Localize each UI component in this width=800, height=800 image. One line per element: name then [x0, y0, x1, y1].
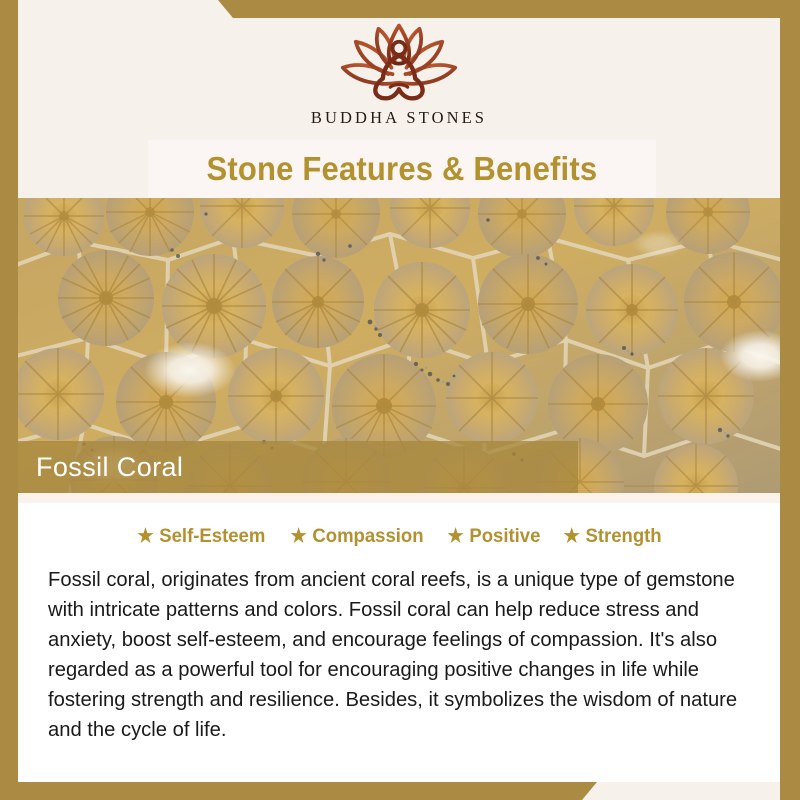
stone-name-label: Fossil Coral — [36, 452, 183, 483]
benefit-item-compassion: ★ Compassion — [290, 525, 423, 548]
info-panel: ★ Self-Esteem ★ Compassion ★ Positive ★ … — [18, 493, 780, 782]
star-icon: ★ — [447, 527, 463, 546]
page-title: Stone Features & Benefits — [207, 150, 598, 188]
star-icon: ★ — [290, 527, 306, 546]
gold-border-left — [0, 0, 18, 800]
poster-canvas: BUDDHA STONES Stone Features & Benefits — [0, 0, 800, 800]
brand-header: BUDDHA STONES — [18, 18, 780, 146]
benefit-label: Self-Esteem — [159, 525, 265, 548]
benefit-item-self-esteem: ★ Self-Esteem — [137, 525, 265, 548]
benefit-label: Strength — [585, 525, 661, 548]
benefit-item-positive: ★ Positive — [447, 525, 540, 548]
gold-border-right — [780, 0, 800, 800]
stone-image: Fossil Coral — [18, 198, 780, 493]
benefits-list: ★ Self-Esteem ★ Compassion ★ Positive ★ … — [18, 525, 780, 548]
star-icon: ★ — [137, 527, 153, 546]
stone-description: Fossil coral, originates from ancient co… — [48, 565, 742, 745]
benefit-label: Compassion — [312, 525, 423, 548]
lotus-meditation-logo-icon — [318, 18, 480, 104]
panel-top-tint — [18, 493, 780, 503]
benefit-label: Positive — [469, 525, 540, 548]
title-banner: Stone Features & Benefits — [148, 140, 656, 198]
star-icon: ★ — [563, 527, 579, 546]
brand-name: BUDDHA STONES — [311, 108, 487, 128]
benefit-item-strength: ★ Strength — [563, 525, 661, 548]
stone-caption-band: Fossil Coral — [18, 441, 578, 493]
